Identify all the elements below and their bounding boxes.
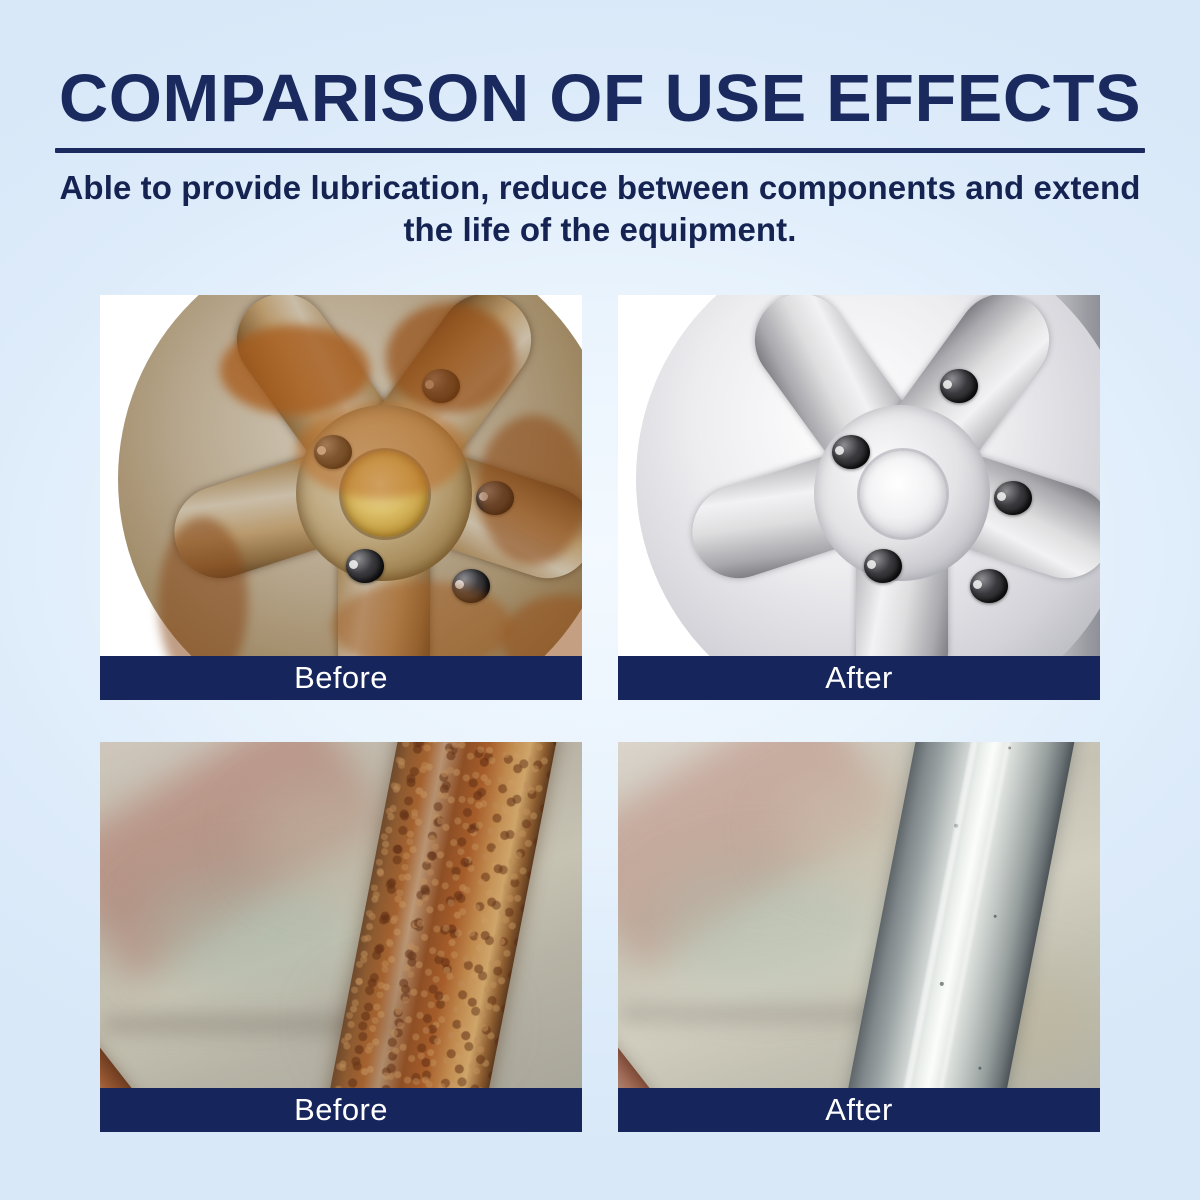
rust-patch	[478, 415, 582, 565]
card-wheel-after: After	[618, 295, 1100, 700]
label-after-wheel: After	[618, 656, 1100, 700]
pipe-speck	[939, 982, 944, 987]
photo-pipe-after	[618, 742, 1100, 1088]
card-pipe-after: After	[618, 742, 1100, 1132]
lug-nut	[970, 569, 1008, 603]
lug-nut	[994, 481, 1032, 515]
rust-patch	[296, 403, 466, 499]
rusty-pipe-illustration	[100, 742, 582, 1088]
label-before-wheel: Before	[100, 656, 582, 700]
card-wheel-before: Before	[100, 295, 582, 700]
wheel-center-cap	[860, 451, 946, 537]
infographic-page: COMPARISON OF USE EFFECTS Able to provid…	[0, 0, 1200, 1200]
page-title: COMPARISON OF USE EFFECTS	[0, 62, 1200, 136]
lug-nut	[346, 549, 384, 583]
rust-patch	[220, 325, 370, 415]
label-before-pipe: Before	[100, 1088, 582, 1132]
lug-nut	[832, 435, 870, 469]
comparison-row-pipe: Before	[100, 742, 1100, 1132]
pipe-speck	[1008, 746, 1012, 750]
page-subtitle: Able to provide lubrication, reduce betw…	[50, 167, 1150, 251]
pipe-speck	[954, 823, 959, 828]
photo-pipe-before	[100, 742, 582, 1088]
card-pipe-before: Before	[100, 742, 582, 1132]
rusty-wheel-illustration	[100, 295, 582, 656]
background-blur-patch	[648, 862, 878, 992]
photo-wheel-before	[100, 295, 582, 656]
rust-patch	[386, 303, 516, 413]
lug-nut	[864, 549, 902, 583]
title-divider	[55, 148, 1145, 153]
pipe-speck	[993, 915, 997, 919]
photo-wheel-after	[618, 295, 1100, 656]
comparison-row-wheel: Before	[100, 295, 1100, 700]
comparison-grid: Before	[100, 295, 1100, 1132]
pipe-speck	[978, 1066, 982, 1070]
label-after-pipe: After	[618, 1088, 1100, 1132]
header: COMPARISON OF USE EFFECTS Able to provid…	[0, 0, 1200, 251]
lug-nut	[940, 369, 978, 403]
clean-pipe-illustration	[618, 742, 1100, 1088]
clean-wheel-illustration	[618, 295, 1100, 656]
